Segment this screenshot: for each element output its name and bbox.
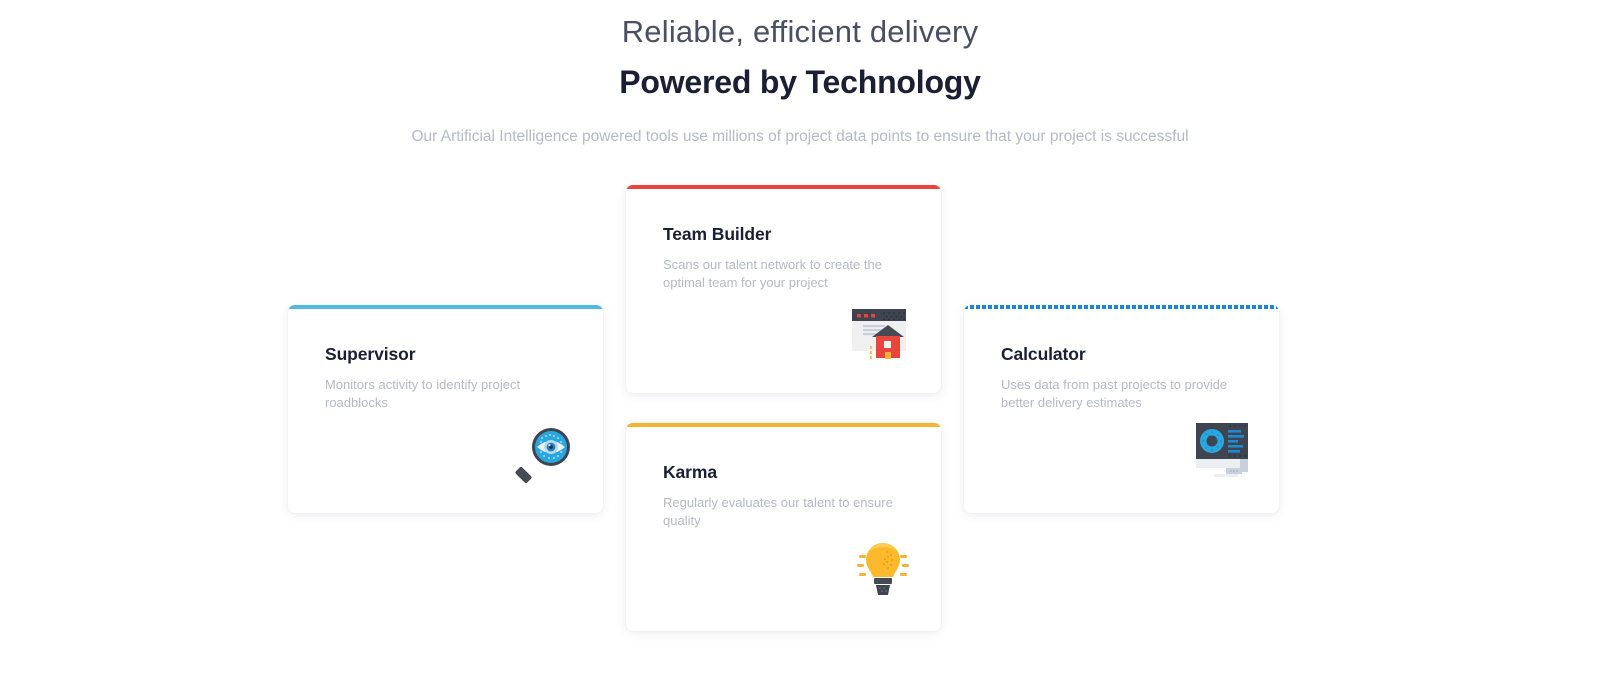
card-description: Regularly evaluates our talent to ensure… [663, 494, 913, 531]
feature-card-supervisor[interactable]: Supervisor Monitors activity to identify… [288, 305, 603, 513]
section-subhead: Our Artificial Intelligence powered tool… [0, 126, 1600, 148]
section-header: Reliable, efficient delivery Powered by … [0, 0, 1600, 147]
lightbulb-icon [851, 535, 915, 606]
card-description: Uses data from past projects to provide … [1001, 376, 1249, 413]
feature-card-karma[interactable]: Karma Regularly evaluates our talent to … [626, 423, 941, 631]
card-title: Calculator [1001, 344, 1086, 365]
card-accent-bar [626, 185, 941, 189]
card-description: Monitors activity to identify project ro… [325, 376, 570, 413]
feature-card-team-builder[interactable]: Team Builder Scans our talent network to… [626, 185, 941, 393]
magnifier-eye-icon [513, 423, 575, 490]
section-headline: Powered by Technology [0, 63, 1600, 101]
feature-card-calculator[interactable]: Calculator Uses data from past projects … [964, 305, 1279, 513]
browser-house-icon [848, 303, 914, 370]
feature-section: Reliable, efficient delivery Powered by … [0, 0, 1600, 689]
section-eyebrow: Reliable, efficient delivery [0, 13, 1600, 50]
card-accent-bar [288, 305, 603, 309]
card-title: Karma [663, 462, 717, 483]
card-description: Scans our talent network to create the o… [663, 256, 901, 293]
monitor-dashboard-icon [1186, 417, 1252, 488]
card-title: Team Builder [663, 224, 771, 245]
card-title: Supervisor [325, 344, 415, 365]
card-accent-bar [626, 423, 941, 427]
card-accent-bar [964, 305, 1279, 309]
